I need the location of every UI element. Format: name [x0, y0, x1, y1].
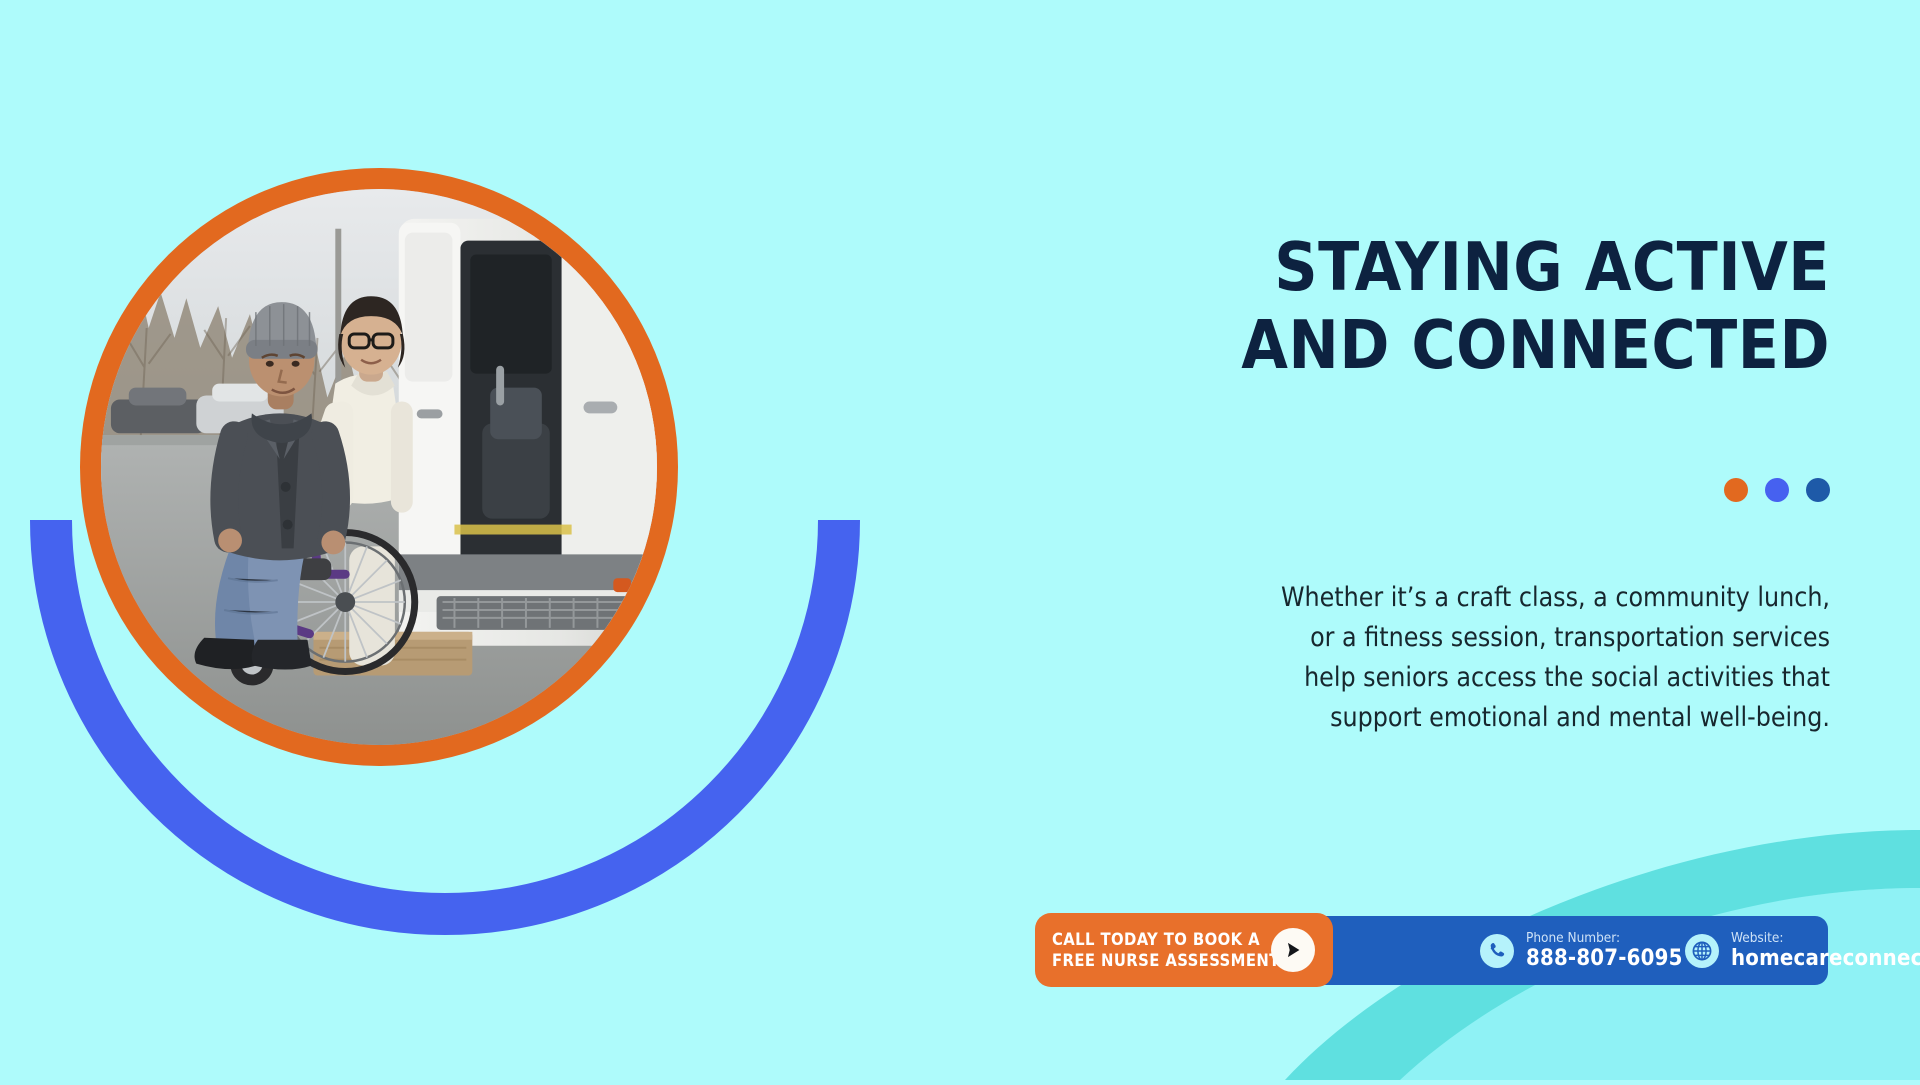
cta-label: CALL TODAY TO BOOK A FREE NURSE ASSESSME…: [1052, 929, 1280, 971]
globe-glyph-icon: [1690, 939, 1714, 963]
website-info-group[interactable]: Website: homecareconnection.ca: [1685, 930, 1920, 972]
wheelchair-van-photo-icon: [101, 189, 657, 745]
photo-medallion: [30, 140, 860, 930]
body-line-3: help seniors access the social activitie…: [1100, 658, 1830, 698]
decorative-dots: [1724, 478, 1830, 502]
website-value[interactable]: homecareconnection.ca: [1731, 946, 1920, 972]
page-title: STAYING ACTIVE AND CONNECTED: [1000, 228, 1830, 384]
phone-glyph-icon: [1486, 940, 1508, 962]
website-label: Website:: [1731, 930, 1920, 946]
phone-info-group[interactable]: Phone Number: 888-807-6095: [1480, 930, 1683, 972]
dot-deep-blue: [1806, 478, 1830, 502]
photo-image: [101, 189, 657, 745]
cta-line-1: CALL TODAY TO BOOK A: [1052, 929, 1280, 950]
headline-line-2: AND CONNECTED: [1000, 306, 1830, 384]
website-text-block: Website: homecareconnection.ca: [1731, 930, 1920, 972]
body-line-4: support emotional and mental well-being.: [1100, 698, 1830, 738]
call-today-cta-button[interactable]: CALL TODAY TO BOOK A FREE NURSE ASSESSME…: [1035, 913, 1333, 987]
phone-label: Phone Number:: [1526, 930, 1683, 946]
phone-icon: [1480, 934, 1514, 968]
headline-line-1: STAYING ACTIVE: [1000, 228, 1830, 306]
photo-orange-ring: [80, 168, 678, 766]
body-line-1: Whether it’s a craft class, a community …: [1100, 578, 1830, 618]
dot-blue-violet: [1765, 478, 1789, 502]
play-glyph-icon: [1282, 939, 1304, 961]
body-line-2: or a fitness session, transportation ser…: [1100, 618, 1830, 658]
play-triangle-icon[interactable]: [1271, 928, 1315, 972]
globe-icon: [1685, 934, 1719, 968]
cta-line-2: FREE NURSE ASSESSMENT: [1052, 950, 1280, 971]
contact-bar: Phone Number: 888-807-6095 Website: home…: [1035, 913, 1830, 987]
phone-value[interactable]: 888-807-6095: [1526, 946, 1683, 972]
phone-text-block: Phone Number: 888-807-6095: [1526, 930, 1683, 972]
body-paragraph: Whether it’s a craft class, a community …: [1100, 578, 1830, 738]
dot-orange: [1724, 478, 1748, 502]
